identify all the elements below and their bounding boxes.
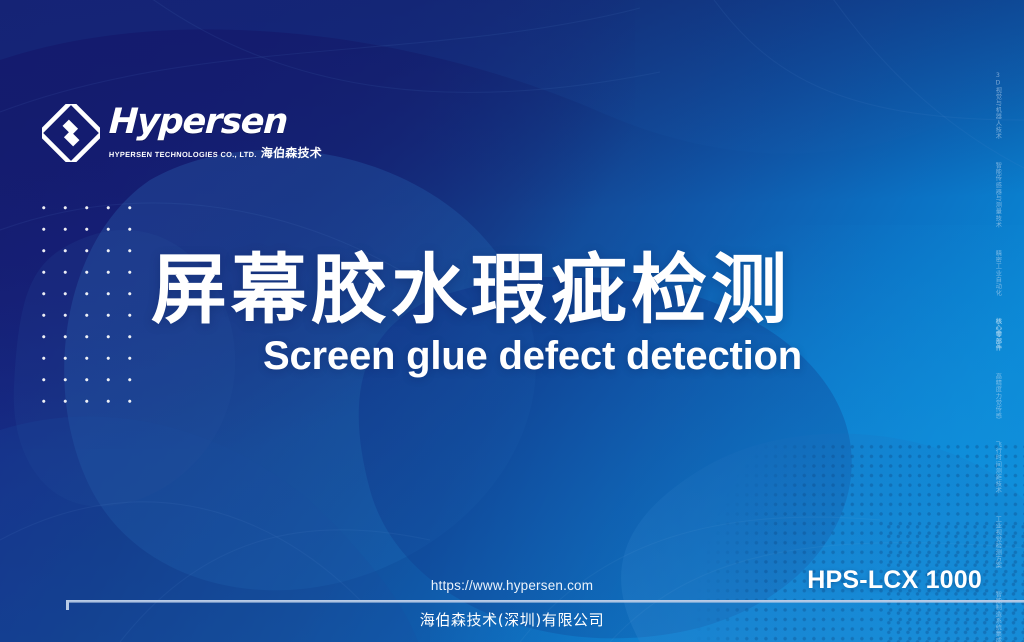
side-keyword-item: 精密工业自动化 — [994, 250, 1001, 296]
page-title-cn: 屏幕胶水瑕疵检测 — [151, 251, 911, 329]
side-keyword-item: 高精度力觉传感 — [994, 373, 1001, 419]
side-keyword-item: 3D视觉与机器人技术 — [994, 72, 1001, 140]
brand-subtitle-en: HYPERSEN TECHNOLOGIES CO., LTD. — [109, 150, 257, 159]
footer-website-url[interactable]: https://www.hypersen.com — [0, 578, 1024, 593]
footer-divider — [66, 600, 1024, 603]
side-keyword-item: 工业视觉检测方案 — [994, 516, 1001, 569]
brand-logo: Hypersen HYPERSEN TECHNOLOGIES CO., LTD.… — [42, 104, 322, 162]
brand-subtitle-cn: 海伯森技术 — [260, 144, 322, 161]
side-keyword-item: 核心零部件 — [994, 318, 1001, 351]
brand-wordmark: Hypersen — [108, 105, 323, 140]
side-keyword-item: 智能传感器与测量技术 — [994, 162, 1001, 228]
side-keyword-item: 飞行时间测距技术 — [994, 441, 1001, 494]
brand-logo-text: Hypersen HYPERSEN TECHNOLOGIES CO., LTD.… — [109, 105, 322, 161]
footer-company-name: 海伯森技术(深圳)有限公司 — [0, 609, 1024, 630]
hypersen-diamond-logo-icon — [42, 104, 100, 162]
poster-canvas: Hypersen HYPERSEN TECHNOLOGIES CO., LTD.… — [0, 0, 1024, 642]
page-title-en: Screen glue defect detection — [263, 335, 911, 377]
brand-subtitle: HYPERSEN TECHNOLOGIES CO., LTD. 海伯森技术 — [109, 144, 323, 161]
dot-grid-left — [33, 197, 145, 409]
side-keyword-strip: 3D视觉与机器人技术 智能传感器与测量技术 精密工业自动化 核心零部件 高精度力… — [984, 72, 1010, 552]
headline-block: 屏幕胶水瑕疵检测 Screen glue defect detection — [151, 251, 911, 377]
